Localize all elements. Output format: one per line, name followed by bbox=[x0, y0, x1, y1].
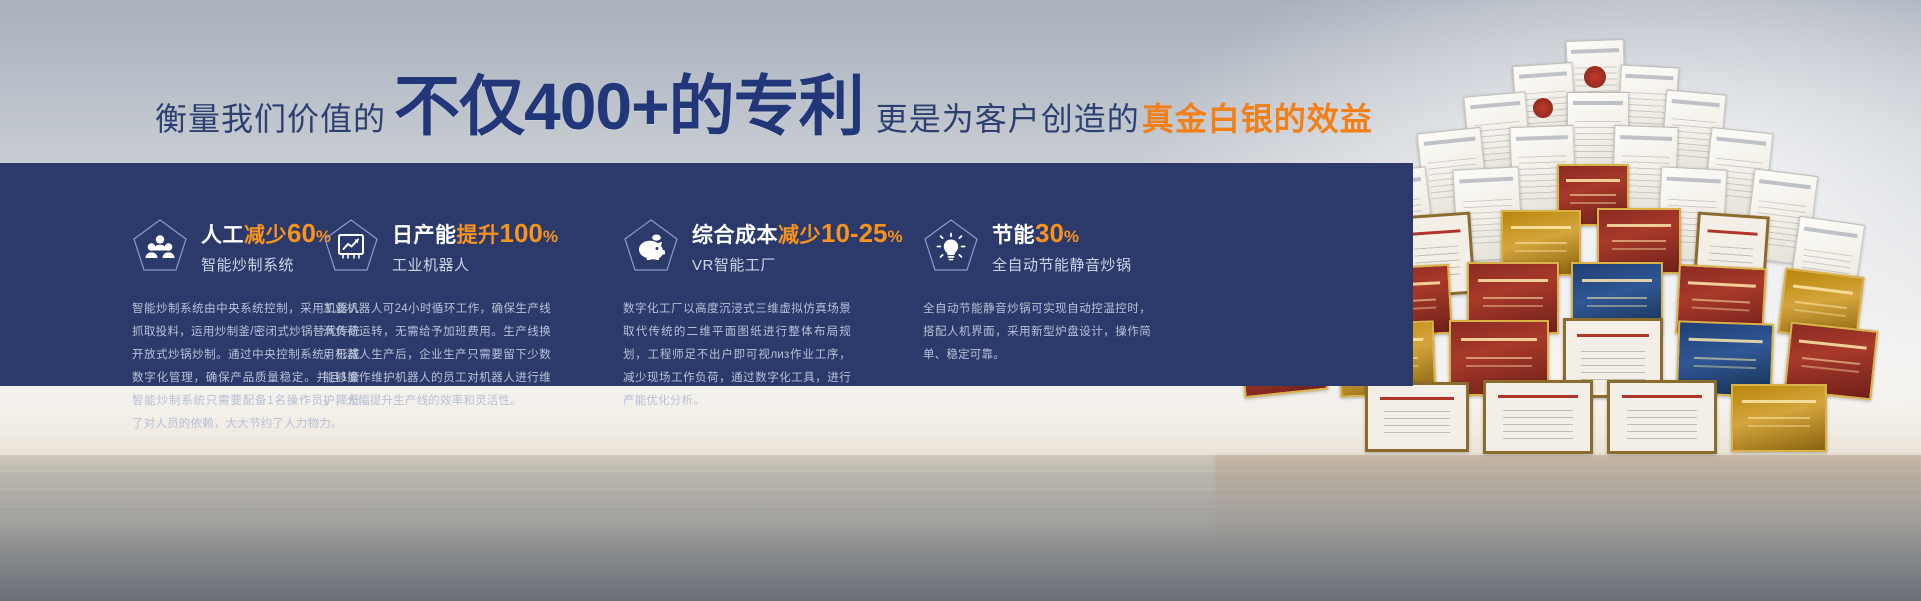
certificate-reflection bbox=[1215, 455, 1921, 575]
feature-title-emphasis: 提升 bbox=[457, 224, 500, 247]
feature-block-1: 人工减少60% 智能炒制系统 智能炒制系统由中央系统控制，采用机器人抓取投料，运… bbox=[0, 163, 300, 386]
piggy-bank-icon bbox=[623, 218, 679, 276]
feature-title: 日产能提升100% bbox=[392, 219, 559, 249]
feature-body: 数字化工厂以高度沉浸式三维虚拟仿真场景取代传统的二维平面图纸进行整体布局规划，工… bbox=[623, 298, 851, 413]
chart-board-icon bbox=[323, 218, 379, 276]
feature-header: 日产能提升100% 工业机器人 bbox=[323, 218, 600, 276]
feature-titles: 节能30% 全自动节能静音炒锅 bbox=[992, 219, 1132, 275]
feature-body: 全自动节能静音炒锅可实现自动控温控时，搭配人机界面，采用新型炉盘设计，操作简单、… bbox=[923, 298, 1151, 367]
feature-subtitle: 工业机器人 bbox=[392, 254, 559, 275]
lightbulb-icon bbox=[923, 218, 979, 276]
headline-highlight: 真金白银的效益 bbox=[1142, 103, 1373, 138]
feature-title-percent: % bbox=[543, 227, 559, 246]
feature-header: 综合成本减少10-25% VR智能工厂 bbox=[623, 218, 900, 276]
feature-subtitle: VR智能工厂 bbox=[692, 254, 903, 275]
feature-body: 工业机器人可24小时循环工作，确保生产线满负荷运转，无需给予加班费用。生产线换用… bbox=[323, 298, 551, 413]
feature-title-prefix: 综合成本 bbox=[692, 224, 778, 247]
certificate-frame bbox=[1365, 382, 1469, 452]
feature-title-number: 30 bbox=[1035, 218, 1064, 248]
feature-title: 综合成本减少10-25% bbox=[692, 219, 903, 249]
feature-panel: 人工减少60% 智能炒制系统 智能炒制系统由中央系统控制，采用机器人抓取投料，运… bbox=[0, 163, 1413, 386]
people-group-icon bbox=[132, 218, 188, 276]
feature-block-2: 日产能提升100% 工业机器人 工业机器人可24小时循环工作，确保生产线满负荷运… bbox=[300, 163, 600, 386]
feature-title-percent: % bbox=[1064, 227, 1080, 246]
feature-block-3: 综合成本减少10-25% VR智能工厂 数字化工厂以高度沉浸式三维虚拟仿真场景取… bbox=[600, 163, 900, 386]
feature-titles: 综合成本减少10-25% VR智能工厂 bbox=[692, 219, 903, 275]
feature-title: 节能30% bbox=[992, 219, 1132, 249]
feature-title-number: 10-25 bbox=[821, 218, 888, 248]
feature-title-prefix: 日产能 bbox=[392, 224, 457, 247]
feature-title-prefix: 人工 bbox=[201, 224, 244, 247]
headline-prefix: 衡量我们价值的 bbox=[155, 103, 386, 138]
feature-header: 节能30% 全自动节能静音炒锅 bbox=[923, 218, 1200, 276]
feature-title-number: 100 bbox=[500, 218, 543, 248]
certificate-frame bbox=[1483, 380, 1593, 454]
page-headline: 衡量我们价值的 不仅400+的专利 更是为客户创造的 真金白银的效益 bbox=[0, 72, 1460, 138]
feature-titles: 日产能提升100% 工业机器人 bbox=[392, 219, 559, 275]
certificate-seal bbox=[1533, 98, 1553, 118]
award-plaque bbox=[1731, 384, 1827, 452]
feature-block-4: 节能30% 全自动节能静音炒锅 全自动节能静音炒锅可实现自动控温控时，搭配人机界… bbox=[900, 163, 1200, 386]
certificate-seal bbox=[1584, 66, 1606, 88]
headline-middle: 更是为客户创造的 bbox=[870, 103, 1142, 138]
feature-subtitle: 全自动节能静音炒锅 bbox=[992, 254, 1132, 275]
feature-title-prefix: 节能 bbox=[992, 224, 1035, 247]
certificate-frame bbox=[1607, 380, 1717, 454]
headline-emphasis: 不仅400+的专利 bbox=[386, 75, 870, 138]
feature-title-emphasis: 减少 bbox=[778, 224, 821, 247]
feature-title-emphasis: 减少 bbox=[244, 224, 287, 247]
feature-header: 人工减少60% 智能炒制系统 bbox=[132, 218, 300, 276]
